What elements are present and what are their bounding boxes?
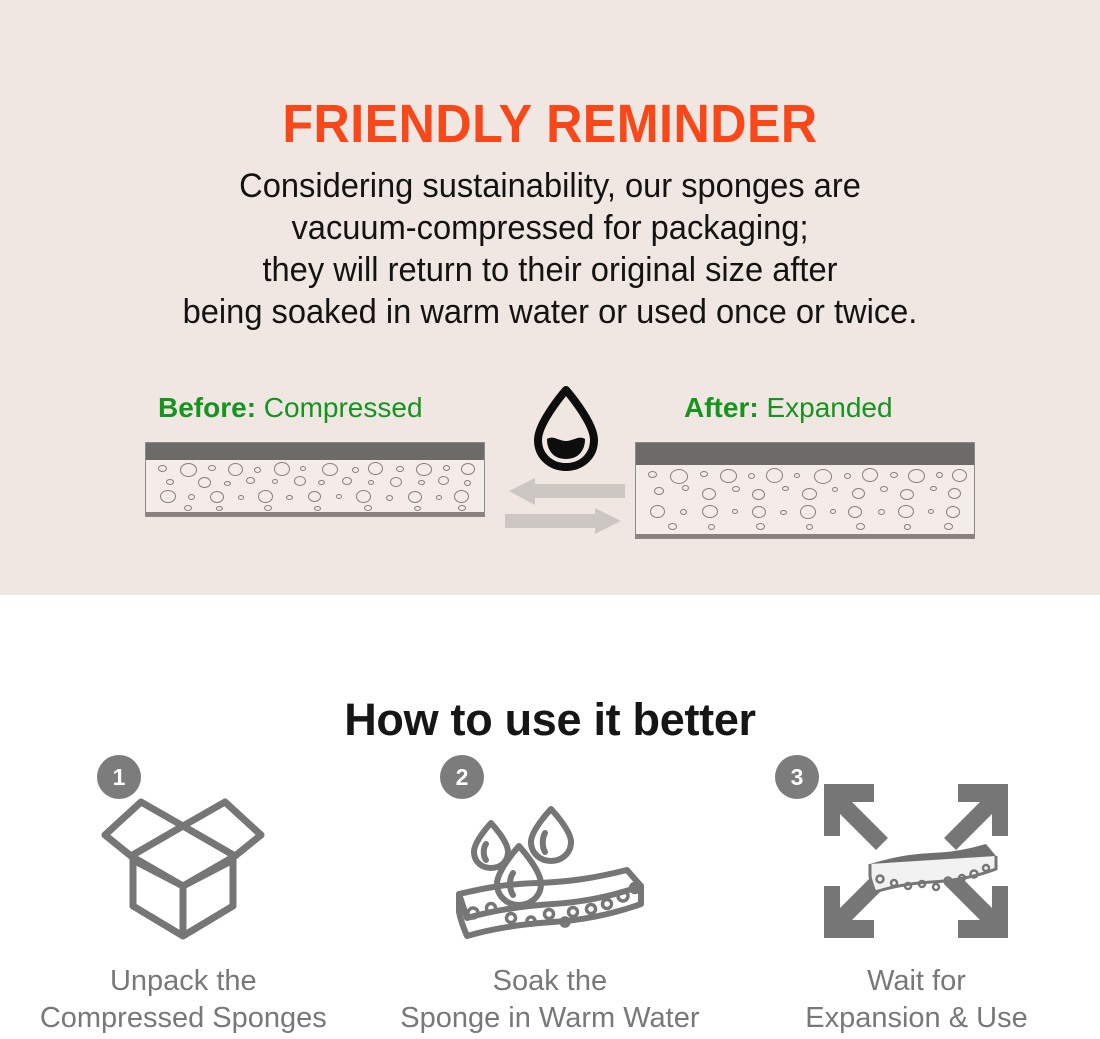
reminder-body-line-2: vacuum-compressed for packaging; — [22, 207, 1078, 249]
step-item-2: Soak the Sponge in Warm Water — [367, 750, 734, 1037]
before-label-prefix: Before: — [158, 392, 256, 423]
reminder-body-text: Considering sustainability, our sponges … — [22, 165, 1078, 333]
step-caption-2-line1: Soak the — [400, 963, 699, 1000]
expanding-arrows-sponge-icon — [816, 768, 1016, 953]
before-label-value: Compressed — [264, 392, 423, 423]
step-caption-3-line1: Wait for — [805, 963, 1027, 1000]
two-way-arrows-icon — [505, 478, 625, 539]
steps-list: Unpack the Compressed Sponges — [0, 750, 1100, 1037]
step-number-badge-1: 1 — [97, 755, 141, 799]
step-caption-2: Soak the Sponge in Warm Water — [400, 963, 699, 1037]
after-label-prefix: After: — [684, 392, 759, 423]
water-drops-on-sponge-icon — [445, 768, 655, 953]
how-to-use-section: How to use it better — [0, 595, 1100, 1039]
step-caption-1-line1: Unpack the — [40, 963, 327, 1000]
reminder-body-line-3: they will return to their original size … — [22, 249, 1078, 291]
water-drop-icon — [530, 386, 602, 477]
sponge-top-surface — [636, 443, 974, 465]
promo-page: FRIENDLY REMINDER Considering sustainabi… — [0, 0, 1100, 1039]
step-caption-1: Unpack the Compressed Sponges — [40, 963, 327, 1037]
reminder-body-line-1: Considering sustainability, our sponges … — [22, 165, 1078, 207]
step-item-1: Unpack the Compressed Sponges — [0, 750, 367, 1037]
step-caption-3-line2: Expansion & Use — [805, 1000, 1027, 1037]
transform-indicator — [505, 386, 625, 546]
sponge-expanded-illustration — [635, 442, 975, 539]
howto-title: How to use it better — [0, 694, 1100, 746]
sponge-top-surface — [146, 443, 484, 460]
step-caption-1-line2: Compressed Sponges — [40, 1000, 327, 1037]
before-after-comparison: Before: Compressed After: Expanded — [0, 392, 1100, 562]
sponge-compressed-illustration — [145, 442, 485, 517]
after-label: After: Expanded — [684, 392, 893, 424]
friendly-reminder-section: FRIENDLY REMINDER Considering sustainabi… — [0, 0, 1100, 595]
sponge-bottom-edge — [146, 512, 484, 516]
sponge-bottom-edge — [636, 534, 974, 538]
after-label-value: Expanded — [766, 392, 892, 423]
step-number-badge-3: 3 — [775, 755, 819, 799]
step-number-badge-2: 2 — [440, 755, 484, 799]
step-caption-2-line2: Sponge in Warm Water — [400, 1000, 699, 1037]
before-label: Before: Compressed — [158, 392, 423, 424]
page-title: FRIENDLY REMINDER — [39, 93, 1062, 155]
step-caption-3: Wait for Expansion & Use — [805, 963, 1027, 1037]
reminder-body-line-4: being soaked in warm water or used once … — [22, 291, 1078, 333]
